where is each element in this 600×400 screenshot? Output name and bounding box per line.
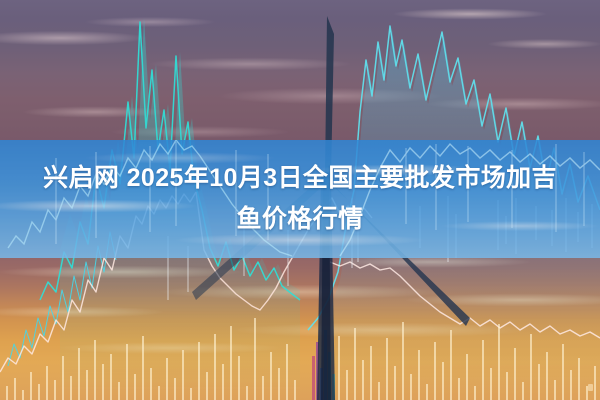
news-hero-banner: 兴启网 2025年10月3日全国主要批发市场加吉 鱼价格行情	[0, 0, 600, 400]
title-band-chart-overlay	[0, 140, 600, 258]
corner-watermark-mark	[588, 384, 593, 391]
